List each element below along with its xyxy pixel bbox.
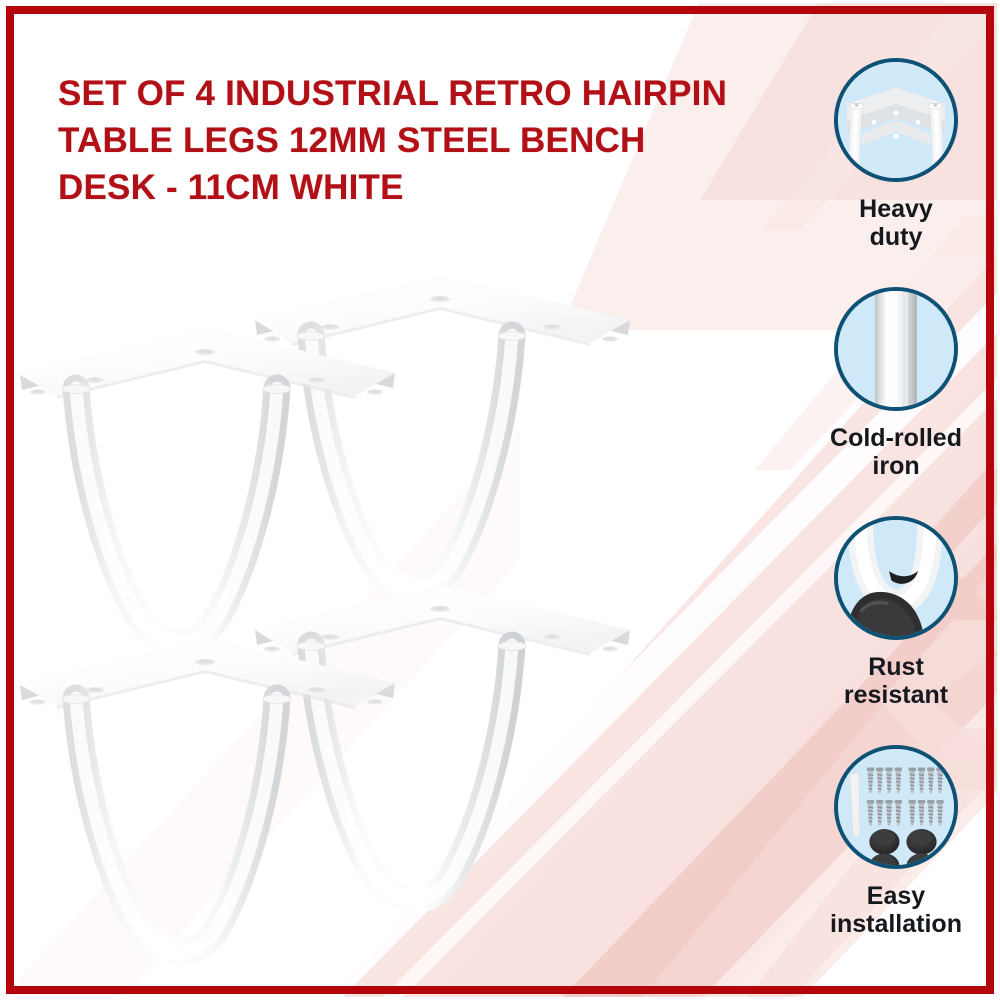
feature-label-line1: Easy (867, 882, 925, 910)
feature-label-line2: resistant (844, 681, 948, 709)
feature-list: Heavy duty (798, 58, 994, 974)
feature-label: Heavy duty (859, 195, 933, 252)
leg-foot-icon (834, 516, 958, 640)
feature-label-line2: duty (870, 223, 923, 251)
page-title: SET OF 4 INDUSTRIAL RETRO HAIRPIN TABLE … (58, 71, 738, 211)
feature-label: Rust resistant (844, 653, 948, 710)
feature-label-line2: iron (872, 452, 919, 480)
feature-item-easy-installation: Easy installation (798, 745, 994, 974)
feature-label-line1: Rust (868, 653, 924, 681)
mounting-plate-icon (834, 58, 958, 182)
feature-label: Easy installation (830, 882, 962, 939)
feature-item-rust-resistant: Rust resistant (798, 516, 994, 745)
feature-label-line1: Heavy (859, 195, 933, 223)
feature-item-heavy-duty: Heavy duty (798, 58, 994, 287)
feature-label-line2: installation (830, 910, 962, 938)
feature-label: Cold-rolled iron (830, 424, 962, 481)
leg-bottom-right (255, 585, 630, 899)
product-photo (0, 215, 790, 975)
feature-label-line1: Cold-rolled (830, 424, 962, 452)
steel-rod-icon (834, 287, 958, 411)
leg-top-right (255, 275, 630, 588)
screws-and-feet-icon (834, 745, 958, 869)
product-listing-image: SET OF 4 INDUSTRIAL RETRO HAIRPIN TABLE … (0, 0, 1000, 1000)
feature-item-cold-rolled-iron: Cold-rolled iron (798, 287, 994, 516)
